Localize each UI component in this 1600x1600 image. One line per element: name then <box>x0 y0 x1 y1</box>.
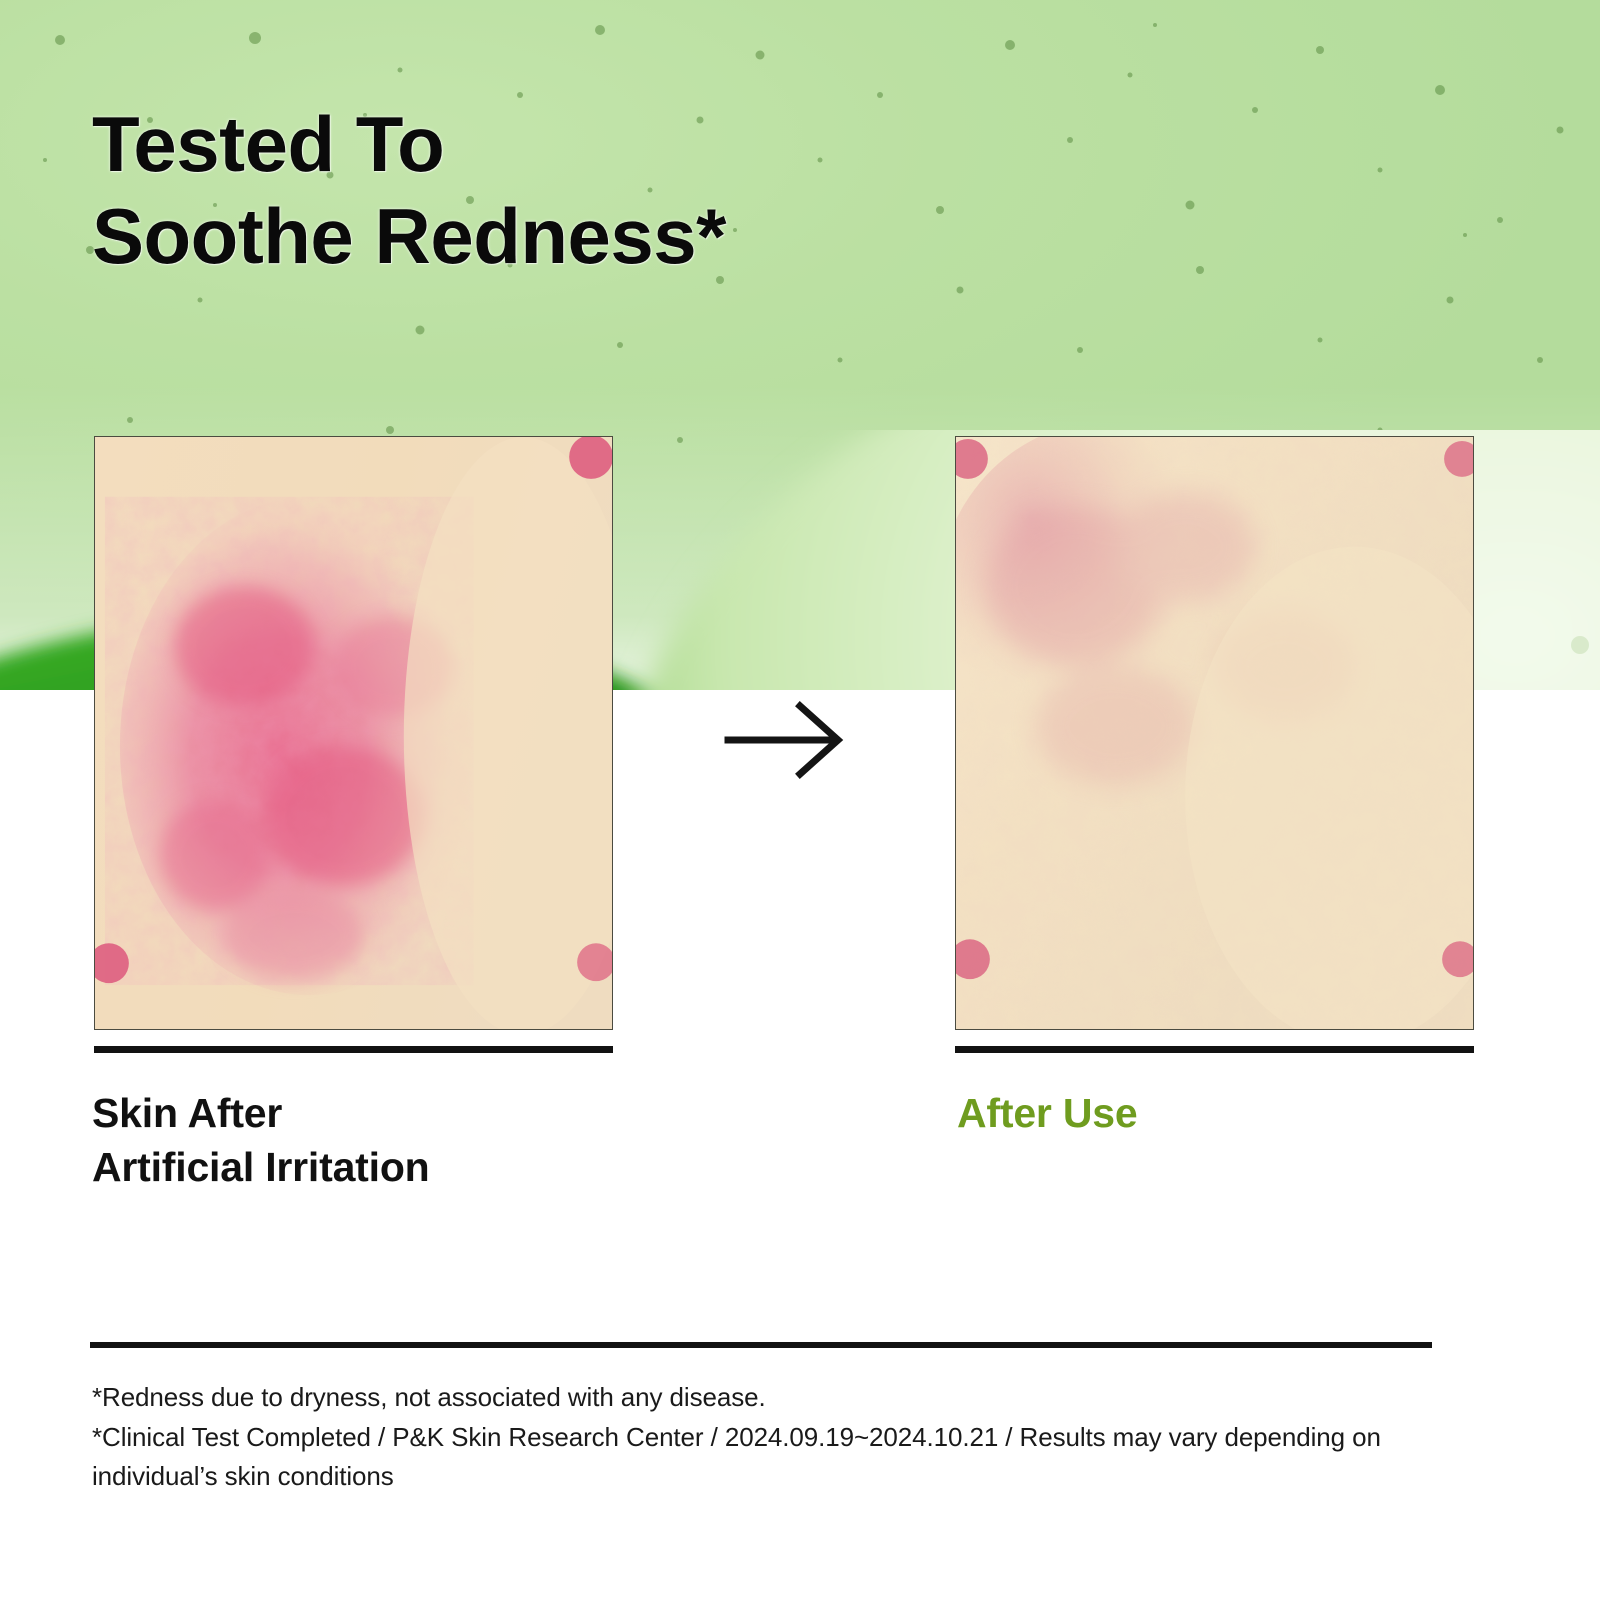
page-title: Tested To Soothe Redness* <box>92 98 726 282</box>
arrow-right-icon <box>722 694 852 786</box>
promo-graphic: Tested To Soothe Redness* <box>0 0 1600 1600</box>
after-caption-divider <box>955 1046 1474 1053</box>
after-caption: After Use <box>957 1086 1137 1140</box>
footnote-block: *Redness due to dryness, not associated … <box>92 1378 1492 1497</box>
footnote-line-1: *Redness due to dryness, not associated … <box>92 1378 1492 1418</box>
before-photo <box>94 436 613 1030</box>
before-caption: Skin After Artificial Irritation <box>92 1086 430 1194</box>
soothed-skin-image <box>956 437 1473 1029</box>
irritated-skin-image <box>95 437 612 1029</box>
content-layer: Tested To Soothe Redness* <box>0 0 1600 1600</box>
footnote-divider <box>90 1342 1432 1348</box>
footnote-line-2: *Clinical Test Completed / P&K Skin Rese… <box>92 1418 1492 1497</box>
before-caption-divider <box>94 1046 613 1053</box>
after-photo <box>955 436 1474 1030</box>
